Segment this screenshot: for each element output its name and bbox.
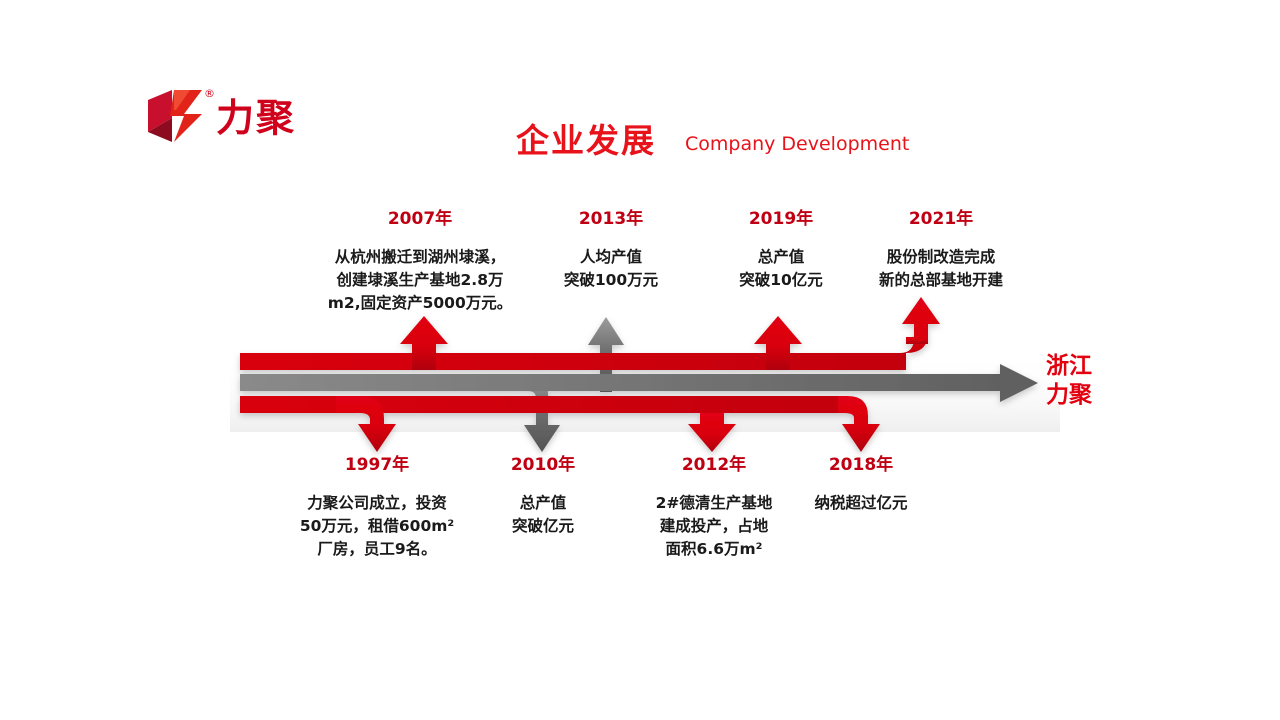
- milestone-year: 2010年: [470, 454, 616, 476]
- end-label-line2: 力聚: [1046, 381, 1092, 410]
- milestone-line: 新的总部基地开建: [856, 269, 1026, 292]
- milestone-line: 建成投产，占地: [636, 515, 792, 538]
- milestone-line: 总产值: [470, 492, 616, 515]
- milestone-year: 1997年: [262, 454, 492, 476]
- milestone-year: 2012年: [636, 454, 792, 476]
- milestone-description: 股份制改造完成 新的总部基地开建: [856, 246, 1026, 292]
- milestone-line: 突破亿元: [470, 515, 616, 538]
- milestone-line: 创建埭溪生产基地2.8万: [300, 269, 540, 292]
- milestone-year: 2018年: [786, 454, 936, 476]
- milestone-line: 突破10亿元: [700, 269, 862, 292]
- milestone-2007: 2007年 从杭州搬迁到湖州埭溪， 创建埭溪生产基地2.8万 m2,固定资产50…: [300, 208, 540, 315]
- milestone-2018: 2018年 纳税超过亿元: [786, 454, 936, 515]
- milestone-line: 从杭州搬迁到湖州埭溪，: [300, 246, 540, 269]
- milestone-description: 总产值 突破亿元: [470, 492, 616, 538]
- milestone-description: 纳税超过亿元: [786, 492, 936, 515]
- timeline-end-label: 浙江 力聚: [1046, 352, 1092, 410]
- milestone-description: 人均产值 突破100万元: [528, 246, 694, 292]
- milestone-description: 2#德清生产基地 建成投产，占地 面积6.6万m²: [636, 492, 792, 561]
- milestone-description: 力聚公司成立，投资 50万元，租借600m² 厂房，员工9名。: [262, 492, 492, 561]
- milestone-line: 厂房，员工9名。: [262, 538, 492, 561]
- milestone-2019: 2019年 总产值 突破10亿元: [700, 208, 862, 292]
- milestone-2012: 2012年 2#德清生产基地 建成投产，占地 面积6.6万m²: [636, 454, 792, 561]
- milestone-2013: 2013年 人均产值 突破100万元: [528, 208, 694, 292]
- milestone-2021: 2021年 股份制改造完成 新的总部基地开建: [856, 208, 1026, 292]
- milestone-year: 2013年: [528, 208, 694, 230]
- milestone-year: 2019年: [700, 208, 862, 230]
- milestone-year: 2007年: [300, 208, 540, 230]
- milestone-description: 总产值 突破10亿元: [700, 246, 862, 292]
- milestone-line: 2#德清生产基地: [636, 492, 792, 515]
- milestone-description: 从杭州搬迁到湖州埭溪， 创建埭溪生产基地2.8万 m2,固定资产5000万元。: [300, 246, 540, 315]
- milestone-2010: 2010年 总产值 突破亿元: [470, 454, 616, 538]
- milestone-1997: 1997年 力聚公司成立，投资 50万元，租借600m² 厂房，员工9名。: [262, 454, 492, 561]
- milestone-line: 纳税超过亿元: [786, 492, 936, 515]
- milestone-line: 力聚公司成立，投资: [262, 492, 492, 515]
- end-label-line1: 浙江: [1046, 352, 1092, 381]
- milestone-line: m2,固定资产5000万元。: [300, 292, 540, 315]
- milestone-line: 50万元，租借600m²: [262, 515, 492, 538]
- milestone-line: 股份制改造完成: [856, 246, 1026, 269]
- milestone-line: 面积6.6万m²: [636, 538, 792, 561]
- milestone-year: 2021年: [856, 208, 1026, 230]
- milestone-line: 总产值: [700, 246, 862, 269]
- milestone-line: 突破100万元: [528, 269, 694, 292]
- slide-canvas: ® 力聚 企业发展 Company Development: [0, 0, 1280, 720]
- milestone-line: 人均产值: [528, 246, 694, 269]
